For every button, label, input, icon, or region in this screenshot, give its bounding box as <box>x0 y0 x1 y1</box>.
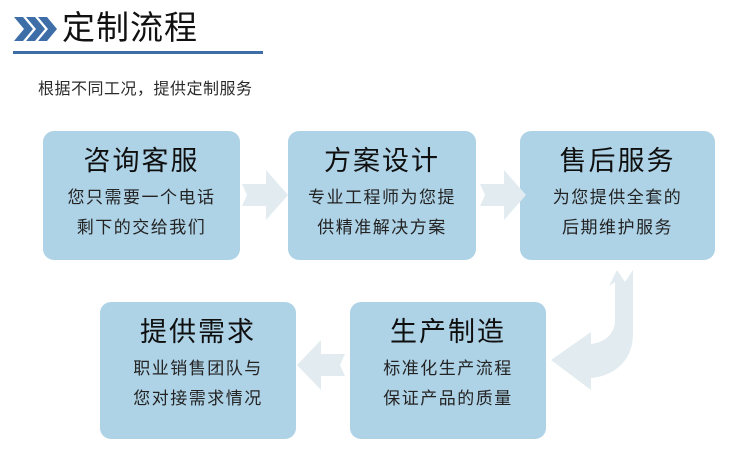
flow-step-card-3[interactable]: 售后服务 为您提供全套的 后期维护服务 <box>520 131 715 260</box>
flow-step-card-2[interactable]: 方案设计 专业工程师为您提 供精准解决方案 <box>288 131 476 260</box>
flow-step-title: 咨询客服 <box>84 141 200 181</box>
flow-step-line: 专业工程师为您提 <box>308 183 456 213</box>
arrow-left-icon <box>294 336 346 394</box>
flow-step-title: 提供需求 <box>140 312 256 352</box>
flow-step-body: 为您提供全套的 后期维护服务 <box>553 183 683 243</box>
flow-step-line: 您对接需求情况 <box>133 384 263 414</box>
flow-step-body: 专业工程师为您提 供精准解决方案 <box>308 183 456 243</box>
flow-step-title: 方案设计 <box>324 141 440 181</box>
flow-step-body: 职业销售团队与 您对接需求情况 <box>133 354 263 414</box>
arrow-down-left-curved-icon <box>545 268 663 390</box>
flow-step-line: 职业销售团队与 <box>133 354 263 384</box>
flow-step-line: 为您提供全套的 <box>553 183 683 213</box>
title-underline <box>13 51 263 54</box>
flow-step-line: 后期维护服务 <box>562 213 673 243</box>
page-title: 定制流程 <box>62 6 198 50</box>
flow-step-title: 生产制造 <box>390 312 506 352</box>
arrow-right-icon <box>241 166 289 224</box>
page-header: 定制流程 <box>0 0 750 60</box>
page-subtitle: 根据不同工况，提供定制服务 <box>38 78 253 102</box>
flow-step-line: 保证产品的质量 <box>383 384 513 414</box>
triple-chevron-right-icon <box>14 16 58 42</box>
arrow-right-icon <box>479 166 527 224</box>
flow-step-body: 标准化生产流程 保证产品的质量 <box>383 354 513 414</box>
flow-step-body: 您只需要一个电话 剩下的交给我们 <box>68 183 216 243</box>
flow-step-line: 标准化生产流程 <box>383 354 513 384</box>
flow-step-line: 剩下的交给我们 <box>77 213 207 243</box>
flow-step-line: 您只需要一个电话 <box>68 183 216 213</box>
flow-step-line: 供精准解决方案 <box>317 213 447 243</box>
flow-step-title: 售后服务 <box>560 141 676 181</box>
flow-step-card-1[interactable]: 咨询客服 您只需要一个电话 剩下的交给我们 <box>43 131 240 260</box>
flow-step-card-4[interactable]: 提供需求 职业销售团队与 您对接需求情况 <box>100 302 296 439</box>
flow-step-card-5[interactable]: 生产制造 标准化生产流程 保证产品的质量 <box>350 302 546 439</box>
